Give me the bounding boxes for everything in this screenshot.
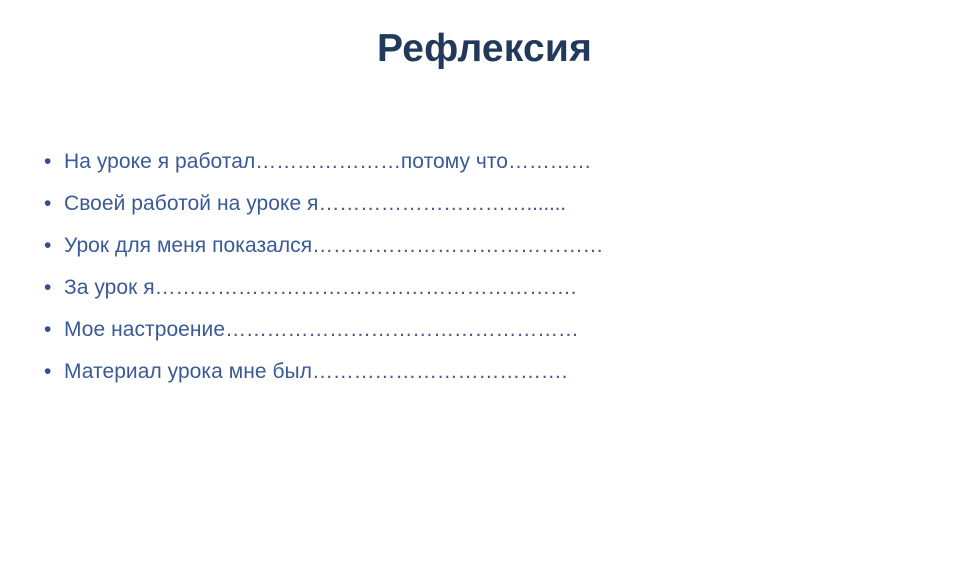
list-item-prompt: На уроке я работал [64,150,255,173]
list-item-label: На уроке я работал…………………потому что………… [64,141,591,183]
list-item: • На уроке я работал…………………потому что………… [44,141,924,183]
bullet-dot-icon: • [44,267,64,309]
page-title: Рефлексия [0,28,969,71]
list-item: • За урок я……………………………………………………. [44,267,924,309]
list-item-prompt: Материал урока мне был [64,360,312,383]
list-item-prompt: Своей работой на уроке я [64,192,318,215]
fill-in-blank-dots: ……………………………………………………. [155,276,577,299]
fill-in-blank-dots: …………………………………… [312,234,603,257]
list-item-label: За урок я……………………………………………………. [64,267,576,309]
list-item-label: Мое настроение…………………………………………… [64,309,579,351]
list-item-prompt: Мое настроение [64,318,225,341]
reflection-bullet-list: • На уроке я работал…………………потому что………… [44,141,924,393]
list-item-label: Материал урока мне был………………………………. [64,351,567,393]
bullet-dot-icon: • [44,141,64,183]
list-item: • Урок для меня показался…………………………………… [44,225,924,267]
list-item: • Своей работой на уроке я…………………………....… [44,183,924,225]
list-item-label: Своей работой на уроке я…………………………......… [64,183,566,225]
fill-in-blank-dots: ………………… [255,150,401,173]
bullet-dot-icon: • [44,351,64,393]
fill-in-blank-dots: ………………………………. [312,360,567,383]
list-item: • Материал урока мне был………………………………. [44,351,924,393]
list-item-label: Урок для меня показался…………………………………… [64,225,603,267]
list-item-prompt: Урок для меня показался [64,234,312,257]
bullet-dot-icon: • [44,183,64,225]
list-item-prompt: За урок я [64,276,155,299]
fill-in-blank-dots-2: ………… [508,150,591,173]
fill-in-blank-dots: …………………………....... [318,192,565,215]
list-item: • Мое настроение…………………………………………… [44,309,924,351]
fill-in-blank-dots: …………………………………………… [225,318,579,341]
list-item-continuation: потому что [401,150,508,173]
slide-canvas: Рефлексия • На уроке я работал…………………пот… [0,0,969,569]
bullet-dot-icon: • [44,225,64,267]
bullet-dot-icon: • [44,309,64,351]
